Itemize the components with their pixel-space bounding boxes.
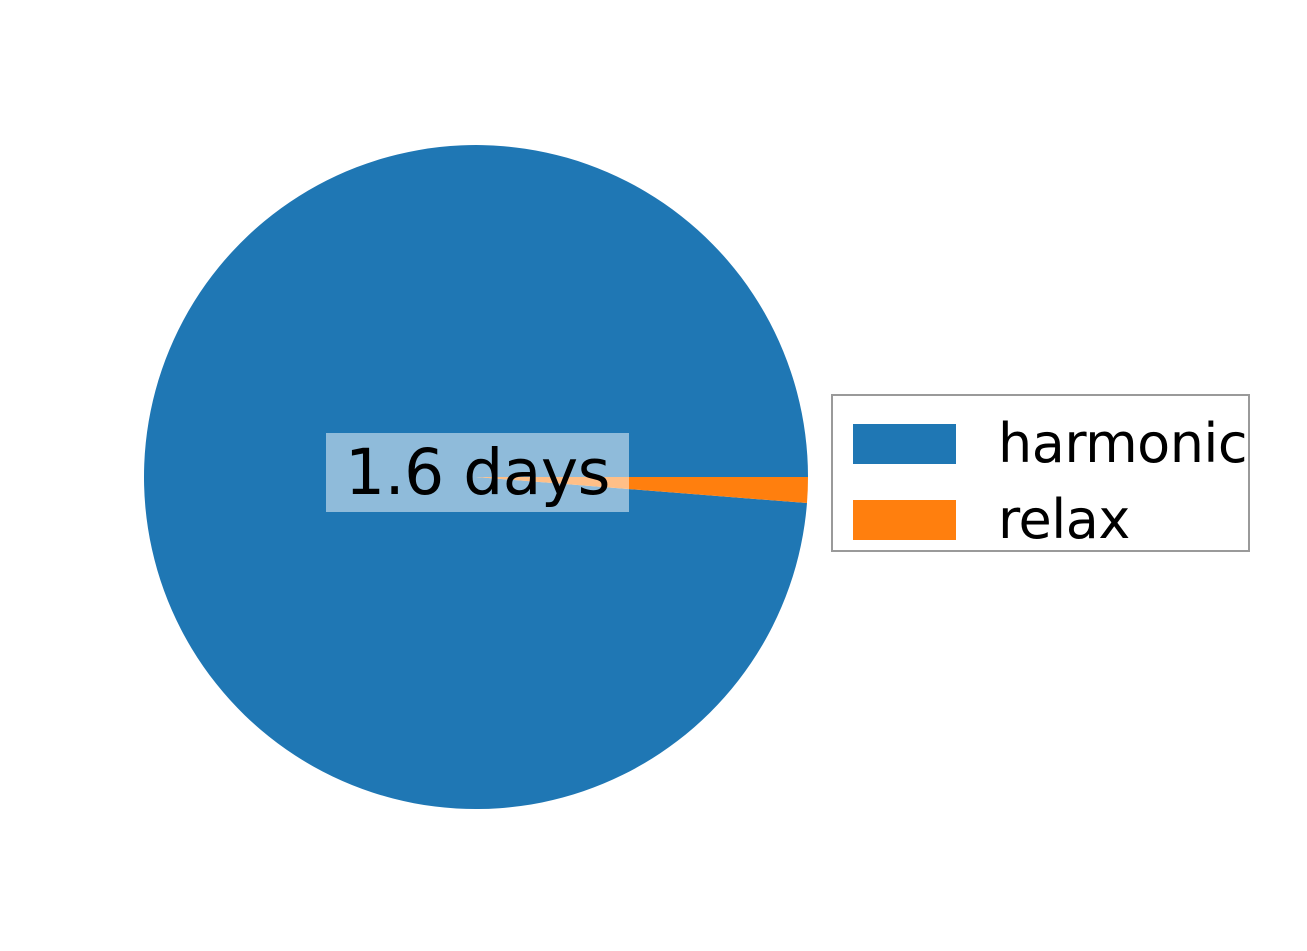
pie-chart-figure: 1.6 days harmonic relax [0,0,1307,951]
legend-item-relax[interactable]: relax [853,493,1130,547]
legend-label-harmonic: harmonic [998,417,1247,471]
chart-legend: harmonic relax [831,394,1250,552]
legend-label-relax: relax [998,493,1130,547]
legend-item-harmonic[interactable]: harmonic [853,417,1247,471]
legend-swatch-harmonic [853,424,956,464]
pie-slice-label-harmonic: 1.6 days [326,433,629,512]
legend-swatch-relax [853,500,956,540]
